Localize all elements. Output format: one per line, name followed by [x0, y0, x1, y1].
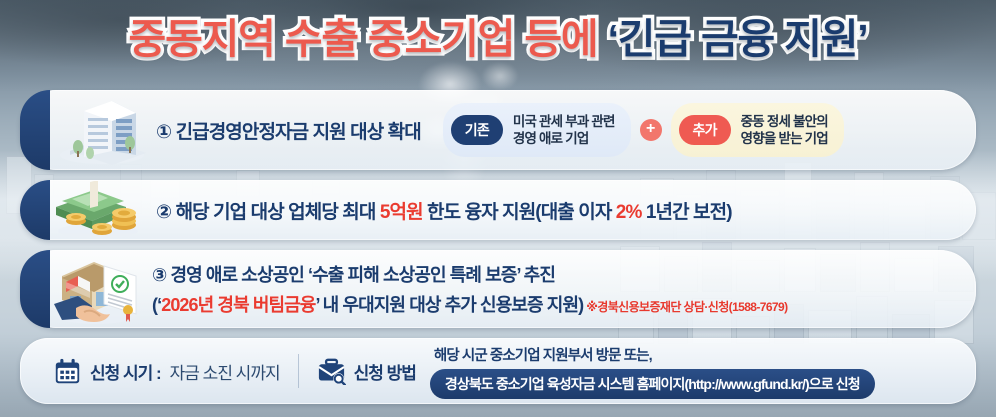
application-method-label: 신청 방법: [354, 359, 416, 384]
footer-divider: [298, 354, 299, 388]
row-3-note: ※경북신용보증재단 상담·신청(1588-7679): [586, 300, 787, 314]
row-2-seg-3: 2%: [616, 202, 642, 223]
storefront-handshake-icon: [48, 252, 144, 326]
row-2-body: ② 해당 기업 대상 업체당 최대 5억원 한도 융자 지원(대출 이자 2% …: [156, 180, 958, 240]
measure-row-1: ① 긴급경영안정자금 지원 대상 확대 기존 미국 관세 부과 관련 경영 애로…: [20, 90, 976, 170]
row-3-seg-1: 2026년 경북 버팀금융: [161, 295, 315, 315]
plus-icon: +: [640, 119, 662, 141]
row-2-text: ② 해당 기업 대상 업체당 최대 5억원 한도 융자 지원(대출 이자 2% …: [156, 197, 732, 224]
application-period-group: 신청 시기 : 자금 소진 시까지: [20, 358, 280, 385]
row-1-heading: ① 긴급경영안정자금 지원 대상 확대: [156, 117, 421, 144]
tag-added-text: 중동 정세 불안의 영향을 받는 기업: [741, 113, 828, 147]
measure-row-3: ③ 경영 애로 소상공인 ‘수출 피해 소상공인 특례 보증’ 추진 (‘202…: [20, 250, 976, 328]
title-part-red: 중동지역 수출 중소기업 등에: [129, 10, 598, 68]
application-method-line1: 해당 시군 중소기업 지원부서 방문 또는,: [430, 344, 875, 365]
row-3-text-stack: ③ 경영 애로 소상공인 ‘수출 피해 소상공인 특례 보증’ 추진 (‘202…: [152, 261, 787, 317]
application-period-label: 신청 시기 :: [90, 359, 161, 384]
tag-card-added: 추가 중동 정세 불안의 영향을 받는 기업: [671, 103, 844, 157]
title-part-navy: ‘긴급 금융 지원’: [608, 10, 868, 68]
row-2-seg-0: ② 해당 기업 대상 업체당 최대: [156, 202, 380, 223]
row-2-seg-1: 5억원: [380, 202, 423, 223]
briefcase-search-icon: [317, 358, 346, 385]
pill-added: 추가: [679, 115, 731, 145]
calendar-icon: [54, 358, 81, 385]
row-3-seg-0: (‘: [152, 295, 161, 315]
tag-card-existing: 기존 미국 관세 부과 관련 경영 애로 기업: [443, 103, 631, 157]
tag-existing-line1: 미국 관세 부과 관련: [513, 113, 615, 130]
tag-existing-text: 미국 관세 부과 관련 경영 애로 기업: [513, 113, 615, 147]
office-building-icon: [54, 93, 150, 167]
row-3-seg-2: ’ 내: [315, 295, 342, 315]
row-3-seg-4: 신용보증 지원): [476, 295, 583, 315]
application-method-group: 신청 방법: [317, 358, 416, 385]
row-3-body: ③ 경영 애로 소상공인 ‘수출 피해 소상공인 특례 보증’ 추진 (‘202…: [152, 250, 958, 328]
measure-row-2: ② 해당 기업 대상 업체당 최대 5억원 한도 융자 지원(대출 이자 2% …: [20, 180, 976, 240]
tag-existing-line2: 경영 애로 기업: [513, 130, 615, 147]
tag-added-line1: 중동 정세 불안의: [741, 113, 828, 130]
poster-canvas: 중동지역 수출 중소기업 등에 ‘긴급 금융 지원’: [0, 0, 996, 417]
row-2-seg-2: 한도 융자 지원(대출 이자: [423, 202, 616, 223]
tag-added-line2: 영향을 받는 기업: [741, 130, 828, 147]
row-3-line2: (‘2026년 경북 버팀금융’ 내 우대지원 대상 추가 신용보증 지원)※경…: [152, 291, 787, 317]
money-stack-icon: [50, 181, 146, 239]
pill-existing: 기존: [451, 115, 503, 145]
row-2-seg-4: 1년간 보전): [641, 202, 731, 223]
application-period-value: 자금 소진 시까지: [170, 359, 280, 384]
application-method-detail: 해당 시군 중소기업 지원부서 방문 또는, 경상북도 중소기업 육성자금 시스…: [430, 344, 875, 399]
poster-title: 중동지역 수출 중소기업 등에 ‘긴급 금융 지원’: [0, 10, 996, 68]
row-1-body: ① 긴급경영안정자금 지원 대상 확대 기존 미국 관세 부과 관련 경영 애로…: [156, 90, 958, 170]
row-3-line1: ③ 경영 애로 소상공인 ‘수출 피해 소상공인 특례 보증’ 추진: [152, 261, 787, 287]
row-3-seg-3: 우대지원 대상 추가: [342, 295, 475, 315]
footer-bar: 신청 시기 : 자금 소진 시까지 신청 방법 해당 시군 중소기업 지원부서 …: [20, 338, 976, 404]
application-website-chip[interactable]: 경상북도 중소기업 육성자금 시스템 홈페이지(http://www.gfund…: [430, 369, 875, 399]
